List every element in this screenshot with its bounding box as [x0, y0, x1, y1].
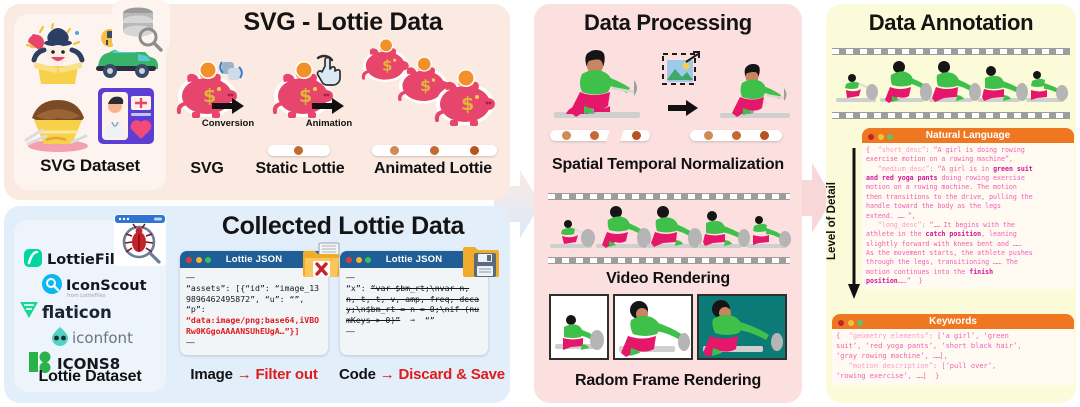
caption-static-lottie: Static Lottie	[246, 160, 354, 178]
label-conversion: Conversion	[198, 118, 258, 129]
image-resize-icon	[662, 50, 704, 92]
window-dots	[868, 134, 893, 140]
timeline-dot	[590, 131, 599, 140]
render-frame-2	[613, 294, 693, 360]
window-dots	[346, 257, 371, 263]
timeline-unnormalized[interactable]	[550, 130, 650, 141]
logo-flaticon: flaticon	[18, 300, 134, 322]
ann-line: “motion description”: [‘pull over’,	[836, 362, 1070, 372]
caption-random-frame-rendering: Radom Frame Rendering	[534, 372, 802, 390]
label-animation: Animation	[300, 118, 358, 129]
caption-svg: SVG	[170, 160, 244, 178]
rower-figure-normalized	[718, 58, 794, 124]
caption-code-discard: Code → Discard & Save	[336, 366, 508, 383]
caption-image-action: Filter out	[255, 366, 317, 383]
timeline-dot	[562, 131, 571, 140]
ann-line: handle toward the body as the legs	[866, 202, 1070, 211]
conversion-icon	[216, 56, 246, 86]
json-content: —— “assets”: [{“id”: “image_139896462495…	[180, 268, 328, 352]
ann-line: suit’, ‘red yoga pants’, ‘short black ha…	[836, 342, 1070, 352]
svg-text:$: $	[382, 57, 392, 74]
timeline-dot	[294, 146, 303, 155]
ann-line: As the movement starts, the athlete push…	[866, 249, 1070, 258]
ann-line: motion continues into the finish	[866, 268, 1070, 277]
timeline-dot	[430, 146, 439, 155]
folder-error-icon	[303, 243, 337, 273]
annotation-card-keywords[interactable]: Keywords { “geometry elements”: [‘a girl…	[832, 314, 1074, 392]
annotation-frame-sequence	[834, 56, 1070, 110]
timeline-dot	[632, 131, 641, 140]
figure-root: SVG - Lottie Data	[0, 0, 1080, 407]
logo-iconfont: iconfont	[50, 326, 162, 346]
json-ellipsis-bottom: ——	[346, 326, 482, 337]
folder-save-icon	[463, 243, 497, 273]
clipart-telemedicine	[94, 86, 158, 148]
rower-figure-original	[552, 42, 648, 126]
svg-text:$: $	[299, 85, 312, 107]
timeline-dot	[760, 131, 769, 140]
annotation-titlebar: Keywords	[832, 314, 1074, 329]
clipart-clown-box	[22, 24, 92, 86]
arrow-conversion	[212, 98, 244, 114]
ann-line: and red yoga pants doing rowing exercise	[866, 174, 1070, 183]
filmstrip-top	[548, 193, 790, 200]
caption-arrow: →	[380, 366, 395, 383]
ann-line: ‘rowing exercise’, ……] }	[836, 372, 1070, 382]
annotation-card-body: { “geometry elements”: [‘a girl’, ‘green…	[832, 329, 1074, 385]
ann-line: athlete in the catch position, leaning	[866, 230, 1070, 239]
caption-image-prefix: Image	[190, 366, 232, 383]
ann-line: slightly forward with knees bent and …….	[866, 240, 1070, 249]
ann-line: ‘gray rowing machine’, ……],	[836, 352, 1070, 362]
ann-line: exercise motion on a rowing machine”,	[866, 155, 1070, 164]
panel-title-collected: Collected Lottie Data	[180, 212, 506, 241]
json-ellipsis-bottom: ——	[186, 337, 322, 348]
timeline-animated[interactable]	[372, 145, 497, 156]
bug-inspection-icon	[114, 214, 166, 266]
ann-line: then transitions to the drive, pulling t…	[866, 193, 1070, 202]
panel-title-svg-lottie: SVG - Lottie Data	[180, 8, 506, 37]
ann-line: through the legs, transitioning ……. The	[866, 258, 1070, 267]
logo-iconscout: IconScout from LottieFiles	[42, 274, 164, 298]
render-frame-3	[697, 294, 787, 360]
json-plain-text: “assets”: [{“id”: “image_139896462495872…	[186, 283, 322, 315]
caption-svg-dataset: SVG Dataset	[14, 156, 166, 176]
json-ellipsis-top: ——	[346, 272, 482, 283]
caption-spatial-temporal-normalization: Spatial Temporal Normalization	[534, 156, 802, 174]
ann-line: { “geometry elements”: [‘a girl’, ‘green	[836, 332, 1070, 342]
annotation-card-body: { “short_desc”: “A girl is doing rowing …	[862, 143, 1074, 289]
json-window-title: Lottie JSON	[226, 254, 283, 265]
database-search-icon	[116, 4, 166, 52]
panel-title-annotation: Data Annotation	[826, 10, 1076, 36]
ann-line: { “short_desc”: “A girl is doing rowing	[866, 146, 1070, 155]
svg-text:from LottieFiles: from LottieFiles	[67, 293, 106, 299]
svg-text:$: $	[420, 76, 431, 95]
panel-title-processing: Data Processing	[534, 10, 802, 36]
clipart-food	[22, 92, 94, 154]
level-of-detail-arrow	[848, 148, 860, 300]
json-code-text: “x”: “var $bm_rt;\nvar n, n, t, t, v, am…	[346, 283, 482, 326]
ann-filmstrip-bottom	[832, 112, 1070, 119]
piggy-animated-lottie: $ $	[358, 36, 508, 128]
caption-arrow: →	[237, 366, 252, 383]
timeline-dot	[704, 131, 713, 140]
caption-image-filter: Image → Filter out	[178, 366, 330, 383]
timeline-normalized[interactable]	[690, 130, 782, 141]
annotation-card-natural-language[interactable]: Natural Language { “short_desc”: “A girl…	[862, 128, 1074, 300]
caption-lottie-dataset: Lottie Dataset	[14, 368, 166, 386]
svg-text:flaticon: flaticon	[42, 303, 112, 322]
caption-code-prefix: Code	[339, 366, 376, 383]
timeline-static[interactable]	[268, 145, 330, 156]
annotation-card-title: Natural Language	[926, 130, 1010, 141]
video-frame-sequence	[548, 200, 792, 256]
ann-line: extend. …… ”,	[866, 212, 1070, 221]
filmstrip-bottom	[548, 257, 790, 264]
ann-line: motion on a rowing machine. The motion	[866, 183, 1070, 192]
ann-line: “long_desc”: “…… It begins with the	[866, 221, 1070, 230]
json-window-title: Lottie JSON	[386, 254, 443, 265]
level-of-detail-label: Level of Detail	[826, 182, 838, 260]
window-dots	[186, 257, 211, 263]
timeline-dot	[470, 146, 479, 155]
timeline-dot	[390, 146, 399, 155]
svg-text:iconfont: iconfont	[72, 329, 133, 347]
annotation-card-title: Keywords	[929, 316, 977, 327]
render-frame-1	[549, 294, 609, 360]
arrow-animation	[312, 98, 344, 114]
caption-video-rendering: Video Rendering	[534, 270, 802, 288]
json-red-text: “data:image/png;base64,iVBORw0KGgoAAAANS…	[186, 315, 322, 337]
caption-animated-lottie: Animated Lottie	[358, 160, 508, 178]
ann-line: “medium_desc”: “A girl is in green suit	[866, 165, 1070, 174]
annotation-titlebar: Natural Language	[862, 128, 1074, 143]
arrow-normalize	[668, 100, 698, 116]
svg-text:$: $	[461, 93, 474, 115]
svg-text:IconScout: IconScout	[66, 278, 147, 294]
window-dots	[838, 320, 863, 326]
timeline-dot	[732, 131, 741, 140]
click-hand-icon	[314, 54, 344, 88]
ann-filmstrip-top	[832, 48, 1070, 55]
caption-code-action: Discard & Save	[399, 366, 505, 383]
ann-line: position…….” }	[866, 277, 1070, 286]
json-ellipsis-top: ——	[186, 272, 322, 283]
